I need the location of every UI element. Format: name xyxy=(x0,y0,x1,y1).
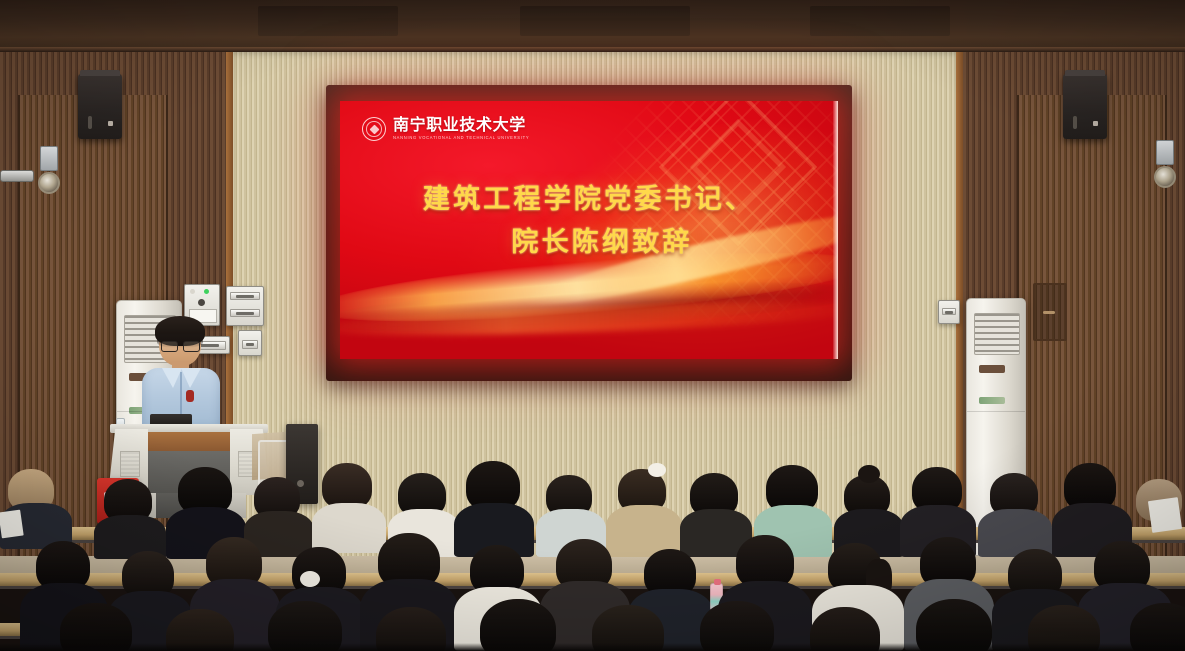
slide-title-line-2: 院长陈纲致辞 xyxy=(340,222,838,265)
university-name-cn: 南宁职业技术大学 xyxy=(393,117,529,134)
breaker-box-small[interactable] xyxy=(238,330,262,356)
university-logo-text: 南宁职业技术大学 NANNING VOCATIONAL AND TECHNICA… xyxy=(393,117,529,140)
audience xyxy=(0,455,1185,651)
podium-wood-face xyxy=(144,432,236,452)
wall-strip-light-left xyxy=(0,170,34,182)
hair-bun xyxy=(858,465,880,483)
university-logo: 南宁职业技术大学 NANNING VOCATIONAL AND TECHNICA… xyxy=(362,117,529,141)
screen-edge-highlight xyxy=(833,101,838,359)
glasses-icon xyxy=(161,341,200,350)
breaker-row xyxy=(230,292,260,300)
presentation-screen: 南宁职业技术大学 NANNING VOCATIONAL AND TECHNICA… xyxy=(340,101,838,359)
wall-dome-light-right xyxy=(1154,166,1176,188)
control-switch xyxy=(942,308,956,315)
lapel-microphone-icon xyxy=(186,390,194,402)
door-handle-plate xyxy=(1033,283,1067,341)
wall-speaker-left xyxy=(78,74,122,139)
paper-handout xyxy=(0,510,24,539)
ac-grille-icon xyxy=(974,313,1020,355)
breaker-row xyxy=(242,340,258,349)
wall-speaker-right xyxy=(1063,74,1107,139)
scene-bottom-edge xyxy=(0,643,1185,651)
ac-display-panel xyxy=(979,365,1005,373)
speaker-port-icon xyxy=(1073,116,1077,129)
ceiling-recess xyxy=(810,6,950,36)
wall-control-panel-right[interactable] xyxy=(938,300,960,324)
paper-handout xyxy=(1148,497,1182,533)
breaker-row xyxy=(230,309,260,317)
presentation-screen-frame: 南宁职业技术大学 NANNING VOCATIONAL AND TECHNICA… xyxy=(326,85,852,381)
ceiling-trim xyxy=(0,0,1185,52)
audience-body xyxy=(312,503,386,553)
wall-dome-light-left xyxy=(38,172,60,194)
status-led-icon xyxy=(190,289,195,294)
breaker-box-upper[interactable] xyxy=(226,286,264,326)
wall-sensor-right xyxy=(1156,140,1174,165)
hair-scrunchie xyxy=(300,571,320,587)
auditorium-scene: 南宁职业技术大学 NANNING VOCATIONAL AND TECHNICA… xyxy=(0,0,1185,651)
slide-title-line-1: 建筑工程学院党委书记、 xyxy=(423,184,755,215)
slide-title: 建筑工程学院党委书记、 院长陈纲致辞 xyxy=(340,179,838,264)
university-crest-icon xyxy=(362,117,386,141)
ac-seam xyxy=(967,411,1025,412)
speaker-led-icon xyxy=(108,121,113,126)
status-led-icon xyxy=(204,289,209,294)
panel-knob-icon xyxy=(198,299,205,306)
speaker-port-icon xyxy=(88,116,92,129)
speaker-led-icon xyxy=(1093,121,1098,126)
university-name-en: NANNING VOCATIONAL AND TECHNICAL UNIVERS… xyxy=(393,136,529,141)
ceiling-recess xyxy=(258,6,398,36)
hair-scrunchie xyxy=(648,463,666,477)
wall-sensor-left xyxy=(40,146,58,171)
ac-brand-logo xyxy=(979,397,1005,404)
ceiling-recess xyxy=(520,6,690,36)
